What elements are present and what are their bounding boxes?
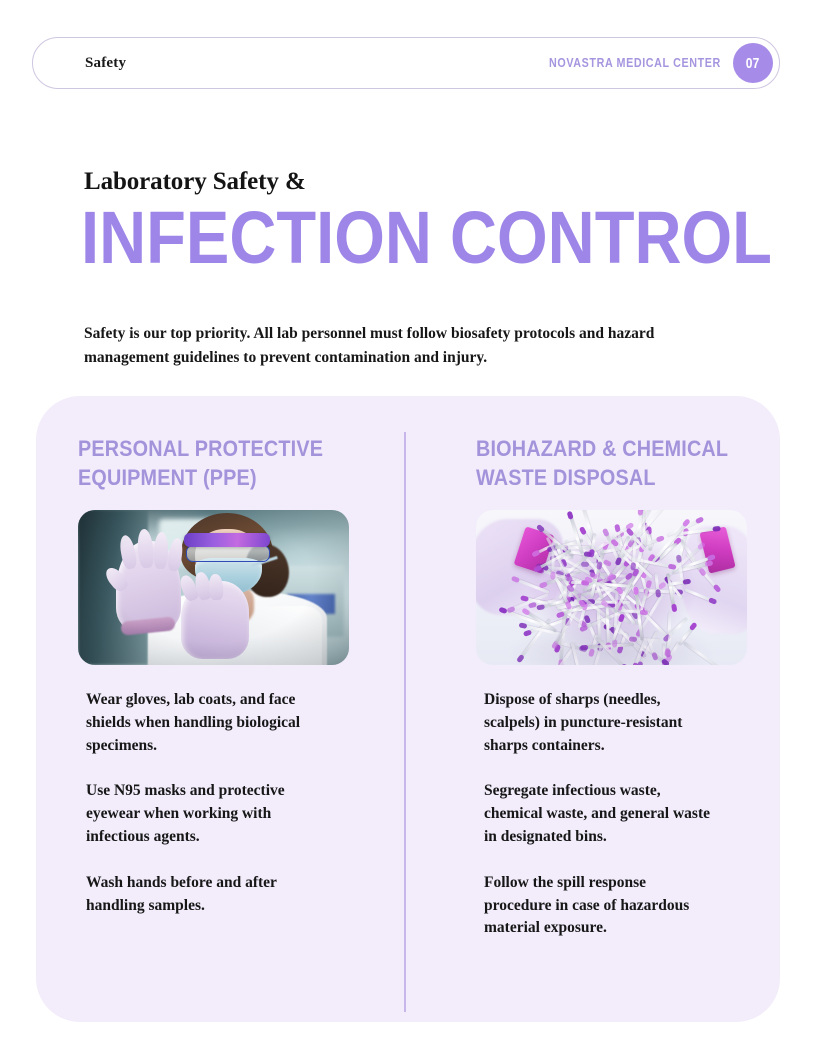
column-heading-waste-disposal: BIOHAZARD & CHEMICAL WASTE DISPOSAL — [476, 434, 776, 492]
header-organization-name: NOVASTRA MEDICAL CENTER — [549, 56, 721, 70]
header-right-group: NOVASTRA MEDICAL CENTER 07 — [521, 43, 773, 83]
intro-paragraph: Safety is our top priority. All lab pers… — [84, 322, 714, 370]
page-number-badge: 07 — [733, 43, 773, 83]
column-ppe: PERSONAL PROTECTIVE EQUIPMENT (PPE) — [78, 434, 378, 917]
column-body-waste-disposal: Dispose of sharps (needles, scalpels) in… — [476, 689, 776, 940]
body-paragraph: Dispose of sharps (needles, scalpels) in… — [484, 689, 716, 757]
body-paragraph: Use N95 masks and protective eyewear whe… — [86, 780, 321, 848]
sharps-photo — [476, 510, 747, 665]
body-paragraph: Segregate infectious waste, chemical was… — [484, 780, 716, 848]
page-title-block: Laboratory Safety & INFECTION CONTROL — [84, 168, 744, 274]
column-divider — [404, 432, 406, 1012]
column-waste-disposal: BIOHAZARD & CHEMICAL WASTE DISPOSAL Disp… — [476, 434, 776, 940]
body-paragraph: Wear gloves, lab coats, and face shields… — [86, 689, 321, 757]
ppe-photo — [78, 510, 349, 665]
body-paragraph: Wash hands before and after handling sam… — [86, 872, 321, 918]
header-section-label: Safety — [85, 55, 126, 72]
page-title-main: INFECTION CONTROL — [81, 202, 664, 275]
page-title-kicker: Laboratory Safety & — [84, 168, 744, 196]
column-heading-ppe: PERSONAL PROTECTIVE EQUIPMENT (PPE) — [78, 434, 378, 492]
body-paragraph: Follow the spill response procedure in c… — [484, 872, 716, 940]
content-card: PERSONAL PROTECTIVE EQUIPMENT (PPE) — [36, 396, 780, 1022]
column-body-ppe: Wear gloves, lab coats, and face shields… — [78, 689, 378, 917]
page-header-pill: Safety NOVASTRA MEDICAL CENTER 07 — [32, 37, 780, 89]
page-number-text: 07 — [746, 55, 760, 72]
